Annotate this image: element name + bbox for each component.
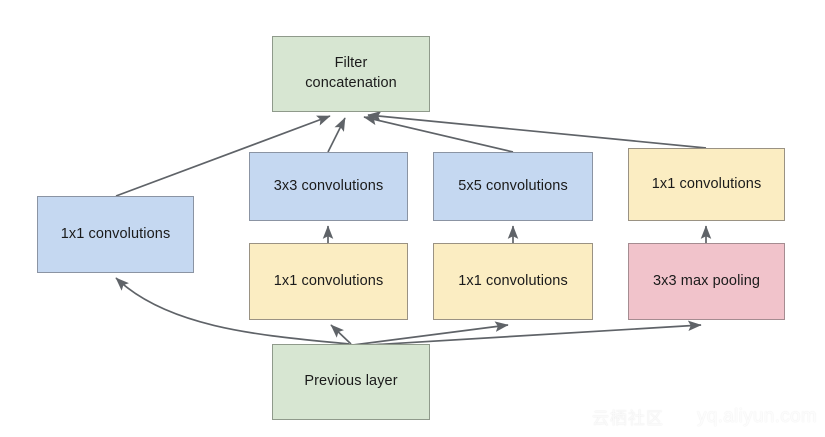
edge-previouslayer-to-maxpool (353, 325, 701, 346)
node-label: 1x1 convolutions (274, 272, 384, 292)
node-label: 3x3 max pooling (653, 272, 760, 292)
node-previous-layer[interactable]: Previous layer (272, 344, 430, 420)
node-1x1-convolutions-pool-projection[interactable]: 1x1 convolutions (628, 148, 785, 221)
edge-previouslayer-to-reduce3 (331, 325, 351, 344)
watermark-community-label: 云栖社区 (592, 404, 664, 429)
node-3x3-convolutions[interactable]: 3x3 convolutions (249, 152, 408, 221)
node-label: 1x1 convolutions (652, 175, 762, 195)
node-5x5-convolutions[interactable]: 5x5 convolutions (433, 152, 593, 221)
node-3x3-max-pooling[interactable]: 3x3 max pooling (628, 243, 785, 320)
watermark-url-label: yq.aliyun.com (697, 406, 817, 428)
node-label: 1x1 convolutions (61, 225, 171, 245)
node-label: Filterconcatenation (305, 54, 397, 93)
envelope-icon (671, 409, 690, 425)
node-1x1-convolutions-direct[interactable]: 1x1 convolutions (37, 196, 194, 273)
node-filter-concatenation[interactable]: Filterconcatenation (272, 36, 430, 112)
edge-conv3x3-to-filterconcat (328, 118, 345, 152)
diagram-canvas: Filterconcatenation 3x3 convolutions 5x5… (0, 0, 825, 437)
edge-conv1x1right-to-filterconcat (368, 115, 706, 148)
node-1x1-convolutions-reduce-5x5[interactable]: 1x1 convolutions (433, 243, 593, 320)
watermark: 云栖社区 yq.aliyun.com (592, 404, 817, 429)
node-label: Previous layer (304, 372, 397, 392)
node-label: 1x1 convolutions (458, 272, 568, 292)
node-1x1-convolutions-reduce-3x3[interactable]: 1x1 convolutions (249, 243, 408, 320)
node-label: 5x5 convolutions (458, 177, 568, 197)
node-label: 3x3 convolutions (274, 177, 384, 197)
